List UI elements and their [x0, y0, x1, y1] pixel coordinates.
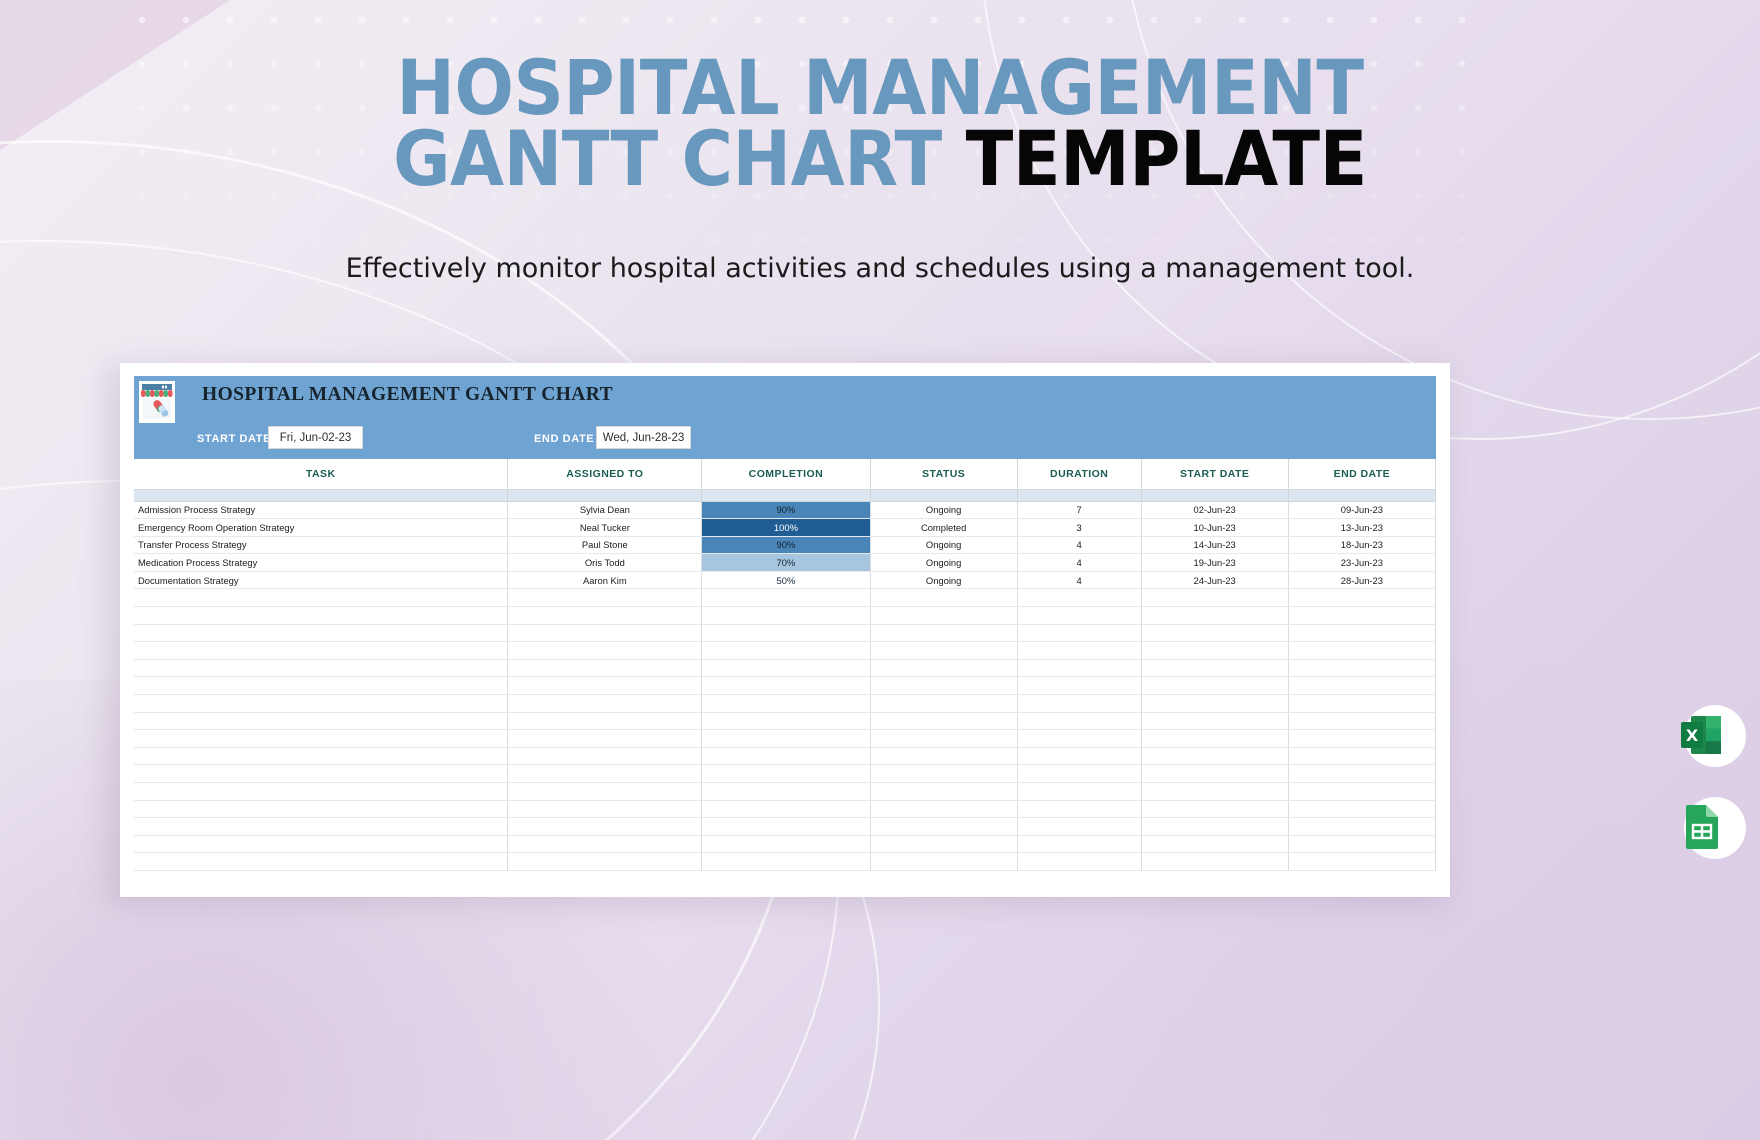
cell-empty[interactable]: [1141, 853, 1288, 871]
cell-empty[interactable]: [1141, 695, 1288, 713]
table-row-empty[interactable]: [134, 642, 1436, 660]
cell-empty[interactable]: [1017, 800, 1141, 818]
table-row-empty[interactable]: [134, 659, 1436, 677]
cell-empty[interactable]: [1141, 835, 1288, 853]
table-row-empty[interactable]: [134, 800, 1436, 818]
cell-empty[interactable]: [1017, 624, 1141, 642]
cell-empty[interactable]: [870, 783, 1017, 801]
cell-empty[interactable]: [508, 642, 702, 660]
cell-empty[interactable]: [1288, 589, 1435, 607]
cell-empty[interactable]: [1288, 624, 1435, 642]
cell-empty[interactable]: [702, 835, 870, 853]
cell-empty[interactable]: [702, 642, 870, 660]
cell-empty[interactable]: [134, 607, 508, 625]
cell-status[interactable]: Completed: [870, 519, 1017, 537]
cell-empty[interactable]: [1288, 712, 1435, 730]
cell-empty[interactable]: [870, 589, 1017, 607]
cell-empty[interactable]: [1288, 659, 1435, 677]
column-header-duration[interactable]: DURATION: [1017, 459, 1141, 489]
pharmacy-storefront-logo: [139, 381, 175, 423]
cell-empty[interactable]: [508, 695, 702, 713]
cell-empty[interactable]: [134, 835, 508, 853]
cell-empty[interactable]: [1141, 765, 1288, 783]
cell-completion[interactable]: 50%: [702, 571, 870, 589]
cell-empty[interactable]: [134, 624, 508, 642]
cell-end[interactable]: 23-Jun-23: [1288, 554, 1435, 572]
promo-headline: HOSPITAL MANAGEMENT GANTT CHART TEMPLATE: [0, 52, 1760, 195]
task-table-pane: TASKASSIGNED TOCOMPLETIONSTATUSDURATIONS…: [134, 459, 1436, 871]
sheet-title: HOSPITAL MANAGEMENT GANTT CHART: [202, 384, 613, 406]
cell-assigned[interactable]: Oris Todd: [508, 554, 702, 572]
cell-empty[interactable]: [1017, 835, 1141, 853]
cell-empty[interactable]: [870, 818, 1017, 836]
cell-empty[interactable]: [1288, 783, 1435, 801]
cell-empty[interactable]: [1288, 765, 1435, 783]
cell-start[interactable]: 02-Jun-23: [1141, 501, 1288, 519]
column-header-assigned[interactable]: ASSIGNED TO: [508, 459, 702, 489]
cell-empty[interactable]: [1141, 624, 1288, 642]
cell-empty[interactable]: [1017, 730, 1141, 748]
cell-empty[interactable]: [702, 783, 870, 801]
cell-empty[interactable]: [1141, 659, 1288, 677]
cell-empty[interactable]: [508, 677, 702, 695]
cell-empty[interactable]: [1017, 783, 1141, 801]
cell-completion[interactable]: 70%: [702, 554, 870, 572]
cell-empty[interactable]: [134, 712, 508, 730]
cell-completion[interactable]: 90%: [702, 501, 870, 519]
cell-empty[interactable]: [1017, 853, 1141, 871]
spacer-cell: [1141, 489, 1288, 501]
cell-empty[interactable]: [870, 765, 1017, 783]
table-row-empty[interactable]: [134, 624, 1436, 642]
table-row-empty[interactable]: [134, 747, 1436, 765]
table-row-empty[interactable]: [134, 730, 1436, 748]
table-row-empty[interactable]: [134, 607, 1436, 625]
start-date-input[interactable]: Fri, Jun-02-23: [268, 426, 363, 449]
cell-empty[interactable]: [1141, 747, 1288, 765]
cell-empty[interactable]: [870, 642, 1017, 660]
table-row-empty[interactable]: [134, 589, 1436, 607]
excel-badge-label: X: [1686, 726, 1699, 745]
cell-empty[interactable]: [508, 607, 702, 625]
column-header-start[interactable]: START DATE: [1141, 459, 1288, 489]
cell-empty[interactable]: [870, 607, 1017, 625]
spacer-cell: [870, 489, 1017, 501]
cell-empty[interactable]: [870, 659, 1017, 677]
cell-empty[interactable]: [870, 677, 1017, 695]
header-spacer-row: [134, 489, 1436, 501]
spacer-cell: [508, 489, 702, 501]
table-row-empty[interactable]: [134, 695, 1436, 713]
cell-empty[interactable]: [1141, 783, 1288, 801]
page-title: HOSPITAL MANAGEMENT GANTT CHART TEMPLATE: [70, 52, 1689, 195]
table-row[interactable]: Transfer Process StrategyPaul Stone90%On…: [134, 536, 1436, 554]
excel-icon: X: [1679, 712, 1725, 758]
cell-empty[interactable]: [134, 589, 508, 607]
column-header-end[interactable]: END DATE: [1288, 459, 1435, 489]
cell-end[interactable]: 28-Jun-23: [1288, 571, 1435, 589]
table-row-empty[interactable]: [134, 853, 1436, 871]
cell-empty[interactable]: [134, 659, 508, 677]
cell-task[interactable]: Emergency Room Operation Strategy: [134, 519, 508, 537]
google-sheets-export-badge[interactable]: [1674, 799, 1730, 855]
end-date-input[interactable]: Wed, Jun-28-23: [596, 426, 691, 449]
cell-empty[interactable]: [1017, 818, 1141, 836]
end-date-label: END DATE: [534, 433, 594, 445]
cell-status[interactable]: Ongoing: [870, 536, 1017, 554]
cell-empty[interactable]: [702, 659, 870, 677]
cell-empty[interactable]: [1017, 765, 1141, 783]
sheet-canvas[interactable]: HOSPITAL MANAGEMENT GANTT CHART START DA…: [134, 376, 1436, 883]
cell-empty[interactable]: [1141, 677, 1288, 695]
cell-empty[interactable]: [1288, 818, 1435, 836]
cell-empty[interactable]: [1017, 607, 1141, 625]
cell-empty[interactable]: [1288, 853, 1435, 871]
table-row[interactable]: Documentation StrategyAaron Kim50%Ongoin…: [134, 571, 1436, 589]
spacer-cell: [1017, 489, 1141, 501]
table-row[interactable]: Admission Process StrategySylvia Dean90%…: [134, 501, 1436, 519]
cell-empty[interactable]: [1141, 712, 1288, 730]
cell-duration[interactable]: 7: [1017, 501, 1141, 519]
cell-start[interactable]: 10-Jun-23: [1141, 519, 1288, 537]
cell-empty[interactable]: [1288, 730, 1435, 748]
excel-export-badge[interactable]: X: [1674, 707, 1730, 763]
cell-completion[interactable]: 90%: [702, 536, 870, 554]
spacer-cell: [1288, 489, 1435, 501]
cell-empty[interactable]: [1288, 677, 1435, 695]
cell-end[interactable]: 09-Jun-23: [1288, 501, 1435, 519]
spreadsheet-document[interactable]: HOSPITAL MANAGEMENT GANTT CHART START DA…: [120, 363, 1450, 897]
cell-empty[interactable]: [702, 712, 870, 730]
cell-empty[interactable]: [702, 800, 870, 818]
title-line-2-accent: GANTT CHART: [393, 114, 966, 203]
cell-empty[interactable]: [508, 800, 702, 818]
cell-empty[interactable]: [134, 695, 508, 713]
cell-task[interactable]: Documentation Strategy: [134, 571, 508, 589]
cell-empty[interactable]: [870, 712, 1017, 730]
cell-empty[interactable]: [870, 730, 1017, 748]
pharmacy-logo-icon: [139, 381, 175, 423]
cell-empty[interactable]: [508, 783, 702, 801]
sheet-header-band: HOSPITAL MANAGEMENT GANTT CHART START DA…: [134, 376, 1436, 459]
cell-empty[interactable]: [702, 747, 870, 765]
cell-empty[interactable]: [1017, 659, 1141, 677]
cell-empty[interactable]: [870, 747, 1017, 765]
cell-task[interactable]: Admission Process Strategy: [134, 501, 508, 519]
cell-empty[interactable]: [702, 677, 870, 695]
cell-empty[interactable]: [134, 783, 508, 801]
cell-empty[interactable]: [508, 747, 702, 765]
cell-empty[interactable]: [1141, 800, 1288, 818]
title-line-2-dark: TEMPLATE: [966, 114, 1367, 203]
task-table[interactable]: TASKASSIGNED TOCOMPLETIONSTATUSDURATIONS…: [134, 459, 1436, 871]
promo-subtitle: Effectively monitor hospital activities …: [0, 253, 1760, 284]
table-row-empty[interactable]: [134, 712, 1436, 730]
cell-empty[interactable]: [1017, 589, 1141, 607]
cell-end[interactable]: 13-Jun-23: [1288, 519, 1435, 537]
cell-empty[interactable]: [870, 624, 1017, 642]
cell-empty[interactable]: [508, 712, 702, 730]
table-row-empty[interactable]: [134, 835, 1436, 853]
cell-empty[interactable]: [870, 835, 1017, 853]
cell-empty[interactable]: [1017, 677, 1141, 695]
cell-empty[interactable]: [508, 624, 702, 642]
table-header-row: TASKASSIGNED TOCOMPLETIONSTATUSDURATIONS…: [134, 459, 1436, 489]
cell-empty[interactable]: [1017, 747, 1141, 765]
cell-assigned[interactable]: Sylvia Dean: [508, 501, 702, 519]
cell-empty[interactable]: [702, 607, 870, 625]
cell-empty[interactable]: [134, 800, 508, 818]
cell-empty[interactable]: [702, 818, 870, 836]
cell-start[interactable]: 14-Jun-23: [1141, 536, 1288, 554]
cell-empty[interactable]: [702, 695, 870, 713]
cell-end[interactable]: 18-Jun-23: [1288, 536, 1435, 554]
table-row-empty[interactable]: [134, 818, 1436, 836]
cell-duration[interactable]: 3: [1017, 519, 1141, 537]
cell-status[interactable]: Ongoing: [870, 554, 1017, 572]
cell-empty[interactable]: [508, 835, 702, 853]
table-row[interactable]: Medication Process StrategyOris Todd70%O…: [134, 554, 1436, 572]
cell-empty[interactable]: [134, 818, 508, 836]
table-row-empty[interactable]: [134, 677, 1436, 695]
cell-empty[interactable]: [702, 589, 870, 607]
cell-empty[interactable]: [1141, 730, 1288, 748]
cell-duration[interactable]: 4: [1017, 536, 1141, 554]
cell-assigned[interactable]: Neal Tucker: [508, 519, 702, 537]
cell-empty[interactable]: [134, 853, 508, 871]
cell-task[interactable]: Transfer Process Strategy: [134, 536, 508, 554]
cell-completion[interactable]: 100%: [702, 519, 870, 537]
sheet-body: TASKASSIGNED TOCOMPLETIONSTATUSDURATIONS…: [134, 459, 1436, 873]
cell-duration[interactable]: 4: [1017, 554, 1141, 572]
cell-empty[interactable]: [1017, 642, 1141, 660]
cell-empty[interactable]: [508, 659, 702, 677]
cell-empty[interactable]: [1141, 818, 1288, 836]
cell-empty[interactable]: [508, 818, 702, 836]
column-header-status[interactable]: STATUS: [870, 459, 1017, 489]
cell-empty[interactable]: [870, 695, 1017, 713]
cell-empty[interactable]: [702, 853, 870, 871]
cell-empty[interactable]: [1141, 642, 1288, 660]
cell-empty[interactable]: [134, 677, 508, 695]
cell-empty[interactable]: [870, 853, 1017, 871]
cell-empty[interactable]: [1141, 607, 1288, 625]
cell-empty[interactable]: [134, 747, 508, 765]
cell-status[interactable]: Ongoing: [870, 501, 1017, 519]
cell-task[interactable]: Medication Process Strategy: [134, 554, 508, 572]
cell-empty[interactable]: [1288, 747, 1435, 765]
cell-empty[interactable]: [1288, 800, 1435, 818]
cell-empty[interactable]: [1017, 712, 1141, 730]
cell-empty[interactable]: [702, 624, 870, 642]
cell-empty[interactable]: [1288, 835, 1435, 853]
cell-empty[interactable]: [1288, 695, 1435, 713]
cell-empty[interactable]: [1288, 642, 1435, 660]
cell-start[interactable]: 24-Jun-23: [1141, 571, 1288, 589]
cell-empty[interactable]: [702, 730, 870, 748]
spacer-cell: [702, 489, 870, 501]
spacer-cell: [134, 489, 508, 501]
cell-empty[interactable]: [1017, 695, 1141, 713]
cell-assigned[interactable]: Aaron Kim: [508, 571, 702, 589]
cell-empty[interactable]: [134, 730, 508, 748]
cell-status[interactable]: Ongoing: [870, 571, 1017, 589]
table-row-empty[interactable]: [134, 783, 1436, 801]
date-controls-row: START DATE Fri, Jun-02-23 END DATE Wed, …: [134, 426, 1436, 456]
table-row-empty[interactable]: [134, 765, 1436, 783]
cell-assigned[interactable]: Paul Stone: [508, 536, 702, 554]
cell-empty[interactable]: [508, 730, 702, 748]
column-header-completion[interactable]: COMPLETION: [702, 459, 870, 489]
start-date-label: START DATE: [197, 433, 271, 445]
cell-empty[interactable]: [134, 642, 508, 660]
cell-start[interactable]: 19-Jun-23: [1141, 554, 1288, 572]
cell-empty[interactable]: [1288, 607, 1435, 625]
cell-empty[interactable]: [508, 765, 702, 783]
cell-empty[interactable]: [870, 800, 1017, 818]
cell-empty[interactable]: [134, 765, 508, 783]
cell-empty[interactable]: [702, 765, 870, 783]
cell-empty[interactable]: [1141, 589, 1288, 607]
cell-duration[interactable]: 4: [1017, 571, 1141, 589]
google-sheets-icon: [1680, 803, 1724, 851]
cell-empty[interactable]: [508, 853, 702, 871]
cell-empty[interactable]: [508, 589, 702, 607]
column-header-task[interactable]: TASK: [134, 459, 508, 489]
table-row[interactable]: Emergency Room Operation StrategyNeal Tu…: [134, 519, 1436, 537]
